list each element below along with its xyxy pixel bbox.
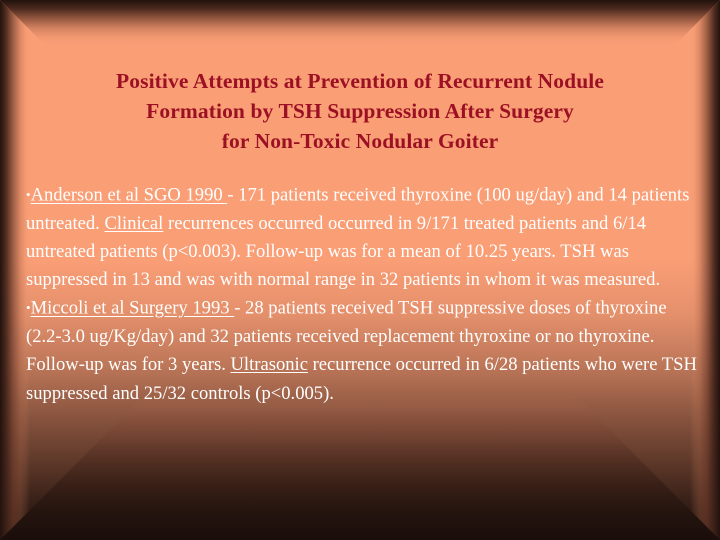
slide-title: Positive Attempts at Prevention of Recur…: [40, 66, 680, 156]
slide-body: •Anderson et al SGO 1990 - 171 patients …: [26, 181, 698, 408]
title-line-3: for Non-Toxic Nodular Goiter: [40, 126, 680, 156]
title-line-1: Positive Attempts at Prevention of Recur…: [40, 66, 680, 96]
slide-content: Positive Attempts at Prevention of Recur…: [0, 0, 720, 540]
bullet-item: •Anderson et al SGO 1990 - 171 patients …: [26, 181, 698, 294]
inline-underlined-term: Clinical: [104, 213, 163, 234]
citation-reference: Miccoli et al Surgery 1993: [31, 298, 235, 319]
presentation-slide: Positive Attempts at Prevention of Recur…: [0, 0, 720, 540]
bullet-item: •Miccoli et al Surgery 1993 - 28 patient…: [26, 294, 698, 407]
title-line-2: Formation by TSH Suppression After Surge…: [40, 96, 680, 126]
inline-underlined-term: Ultrasonic: [231, 354, 308, 375]
citation-reference: Anderson et al SGO 1990: [31, 185, 228, 206]
